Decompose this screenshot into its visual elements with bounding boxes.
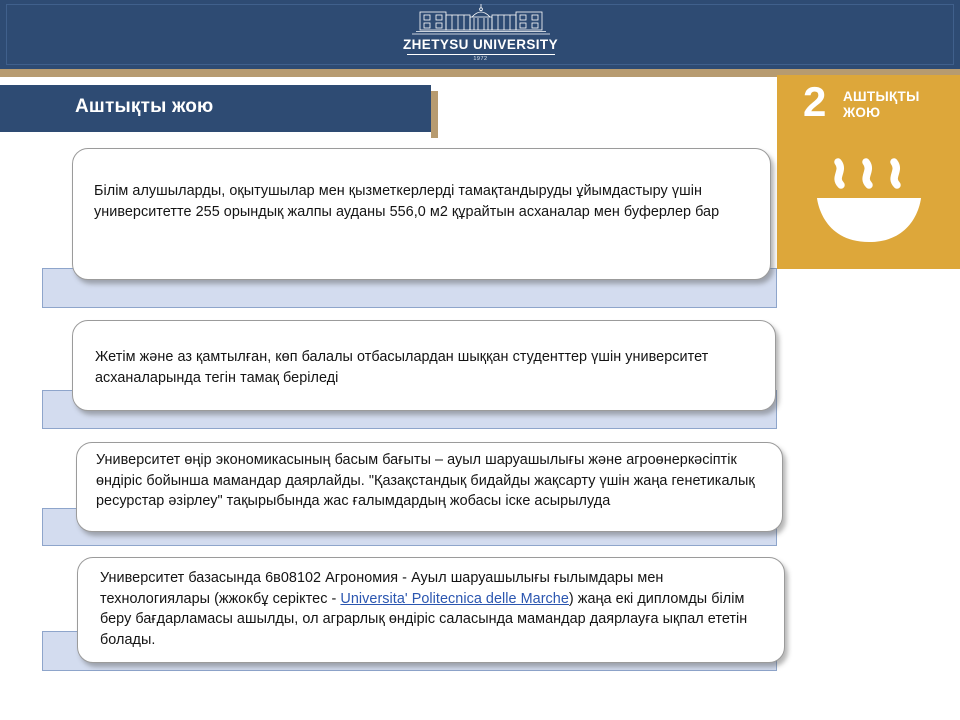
university-founding-year: 1972 bbox=[398, 56, 563, 62]
logo-divider bbox=[407, 54, 555, 55]
sdg-goal-title: АШТЫҚТЫ ЖОЮ bbox=[843, 89, 920, 121]
sdg-goal-title-line2: ЖОЮ bbox=[843, 105, 920, 121]
sdg-goal-number: 2 bbox=[803, 81, 826, 123]
sdg-goal-title-line1: АШТЫҚТЫ bbox=[843, 89, 920, 105]
header-band: ZHETYSU UNIVERSITY 1972 bbox=[0, 0, 960, 69]
university-name: ZHETYSU UNIVERSITY bbox=[398, 38, 563, 52]
content-card: Университет базасында 6в08102 Агрономия … bbox=[77, 557, 785, 663]
university-building-icon bbox=[402, 4, 560, 38]
content-card: Жетім және аз қамтылған, көп балалы отба… bbox=[72, 320, 776, 411]
steaming-bowl-icon bbox=[811, 143, 927, 245]
content-card-text: Білім алушыларды, оқытушылар мен қызметк… bbox=[94, 181, 754, 222]
sdg-goal-badge: 2 АШТЫҚТЫ ЖОЮ bbox=[777, 75, 960, 269]
content-card-text: Университет өңір экономикасының басым ба… bbox=[96, 450, 768, 512]
content-card-text: Жетім және аз қамтылған, көп балалы отба… bbox=[95, 347, 760, 388]
content-card: Білім алушыларды, оқытушылар мен қызметк… bbox=[72, 148, 771, 280]
partner-university-link[interactable]: Universita' Politecnica delle Marche bbox=[340, 591, 569, 607]
page-title: Аштықты жою bbox=[75, 96, 415, 118]
content-card: Университет өңір экономикасының басым ба… bbox=[76, 442, 783, 532]
university-logo: ZHETYSU UNIVERSITY 1972 bbox=[398, 2, 563, 68]
slide-title-shadow bbox=[431, 91, 438, 138]
content-card-text: Университет базасында 6в08102 Агрономия … bbox=[100, 568, 772, 650]
